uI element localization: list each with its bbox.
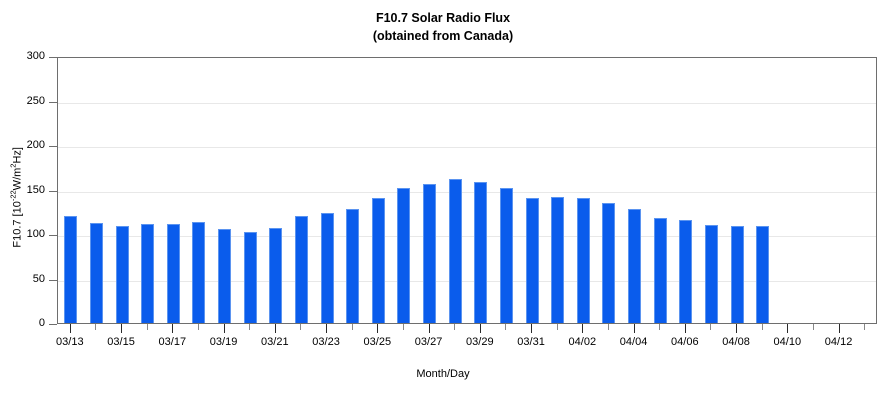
y-tick-mark — [49, 102, 57, 103]
x-tick-major — [172, 324, 173, 333]
y-tick-label: 100 — [0, 228, 45, 241]
x-tick-minor — [813, 324, 814, 330]
bar — [500, 188, 513, 323]
y-axis-title: F10.7 [10-22W/m2Hz] — [9, 97, 24, 297]
x-tick-minor — [710, 324, 711, 330]
bar — [397, 188, 410, 323]
x-tick-minor — [198, 324, 199, 330]
x-axis: 03/1303/1503/1703/1903/2103/2303/2503/27… — [57, 324, 877, 374]
bar — [756, 226, 769, 323]
x-tick-minor — [659, 324, 660, 330]
x-tick-minor — [505, 324, 506, 330]
y-axis: F10.7 [10-22W/m2Hz] 050100150200250300 — [0, 50, 57, 332]
x-tick-major — [839, 324, 840, 333]
y-tick-label: 150 — [0, 184, 45, 197]
bar — [551, 197, 564, 323]
x-tick-major — [582, 324, 583, 333]
bar — [474, 182, 487, 323]
y-tick-mark — [49, 57, 57, 58]
bar — [116, 226, 129, 323]
bar — [372, 198, 385, 323]
bar — [731, 226, 744, 323]
y-tick-mark — [49, 324, 57, 325]
bar — [654, 218, 667, 323]
x-tick-minor — [557, 324, 558, 330]
solar-flux-bar-chart: F10.7 Solar Radio Flux (obtained from Ca… — [0, 0, 886, 400]
y-tick-mark — [49, 191, 57, 192]
bar — [526, 198, 539, 323]
x-tick-minor — [454, 324, 455, 330]
bar — [167, 224, 180, 323]
x-tick-major — [685, 324, 686, 333]
x-tick-major — [787, 324, 788, 333]
x-tick-major — [121, 324, 122, 333]
x-axis-title: Month/Day — [0, 368, 886, 380]
bar — [423, 184, 436, 323]
plot-area — [57, 57, 877, 324]
x-tick-major — [70, 324, 71, 333]
bar — [321, 213, 334, 323]
bar — [628, 209, 641, 323]
gridline — [58, 147, 876, 148]
bar — [346, 209, 359, 323]
y-tick-mark — [49, 146, 57, 147]
x-tick-major — [736, 324, 737, 333]
y-tick-label: 250 — [0, 95, 45, 108]
y-tick-label: 200 — [0, 139, 45, 152]
bar — [295, 216, 308, 323]
bar — [449, 179, 462, 323]
y-tick-label: 50 — [0, 273, 45, 286]
x-tick-major — [531, 324, 532, 333]
bar — [269, 228, 282, 323]
x-tick-minor — [762, 324, 763, 330]
x-tick-label: 04/12 — [809, 336, 869, 348]
x-tick-major — [634, 324, 635, 333]
chart-title: F10.7 Solar Radio Flux — [0, 10, 886, 27]
x-tick-minor — [608, 324, 609, 330]
bar — [577, 198, 590, 323]
bar — [602, 203, 615, 323]
x-tick-minor — [147, 324, 148, 330]
y-tick-mark — [49, 235, 57, 236]
x-tick-major — [377, 324, 378, 333]
chart-subtitle: (obtained from Canada) — [0, 28, 886, 45]
x-tick-minor — [352, 324, 353, 330]
bar — [192, 222, 205, 323]
x-tick-minor — [249, 324, 250, 330]
gridline — [58, 236, 876, 237]
bar — [218, 229, 231, 323]
x-tick-minor — [403, 324, 404, 330]
x-tick-major — [429, 324, 430, 333]
bar — [90, 223, 103, 323]
y-tick-mark — [49, 280, 57, 281]
bar — [141, 224, 154, 323]
y-tick-label: 300 — [0, 50, 45, 63]
y-axis-title-exp2: 2 — [9, 164, 18, 168]
gridline — [58, 192, 876, 193]
bar — [679, 220, 692, 323]
x-tick-major — [275, 324, 276, 333]
bar — [705, 225, 718, 323]
gridline — [58, 281, 876, 282]
bar — [244, 232, 257, 323]
x-tick-minor — [300, 324, 301, 330]
x-tick-major — [326, 324, 327, 333]
x-tick-major — [480, 324, 481, 333]
y-tick-label: 0 — [0, 317, 45, 330]
x-tick-minor — [95, 324, 96, 330]
bar — [64, 216, 77, 323]
gridline — [58, 103, 876, 104]
x-tick-minor — [864, 324, 865, 330]
x-tick-major — [224, 324, 225, 333]
